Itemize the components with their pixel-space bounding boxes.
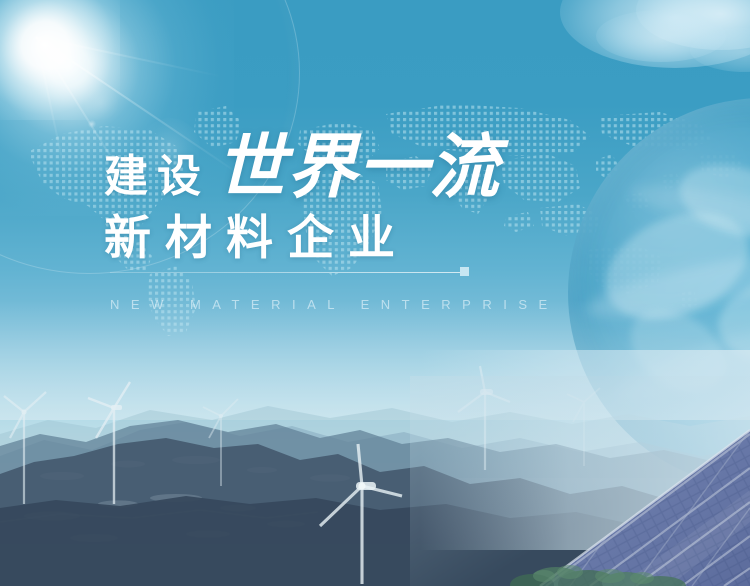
lens-flare-spot-1: [140, 118, 200, 178]
wind-turbine-left: [78, 378, 148, 508]
wind-turbine-center-small: [196, 394, 246, 490]
solar-panel-array: [420, 386, 750, 586]
wind-turbine-left-edge: [0, 386, 52, 506]
lens-flare-spot-2: [84, 86, 118, 120]
wind-turbine-main: [306, 442, 416, 586]
lens-flare-spot-3: [88, 120, 96, 128]
hero-banner: 建设 世界一流 新材料企业 NEW MATERIAL ENTERPRISE: [0, 0, 750, 586]
